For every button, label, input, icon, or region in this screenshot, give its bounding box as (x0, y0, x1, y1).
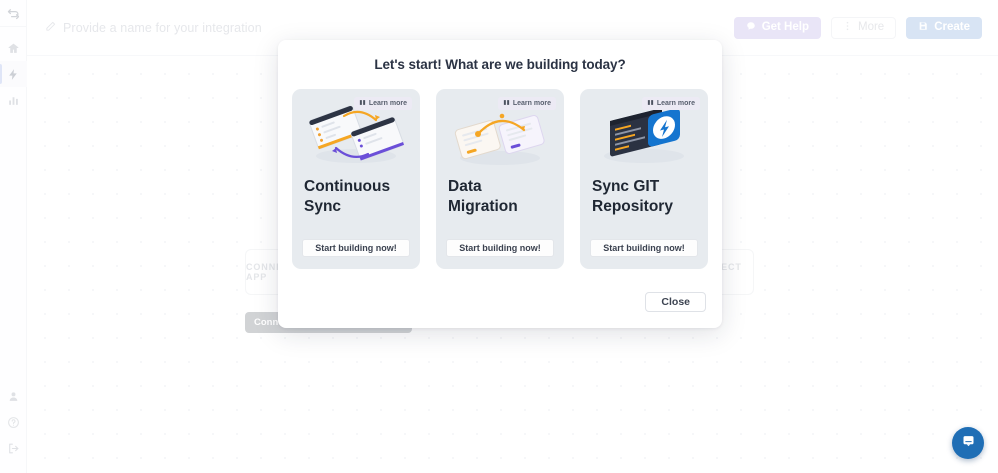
learn-more-badge[interactable]: Learn more (498, 97, 556, 110)
app-root: Provide a name for your integration Get … (0, 0, 998, 473)
learn-more-label: Learn more (657, 100, 695, 107)
modal-title: Let's start! What are we building today? (278, 57, 722, 72)
book-icon (647, 99, 654, 108)
start-building-button[interactable]: Start building now! (302, 239, 410, 257)
modal-footer: Close (278, 292, 722, 328)
book-icon (503, 99, 510, 108)
learn-more-label: Learn more (369, 100, 407, 107)
template-card-sync-git-repository[interactable]: Learn more (580, 89, 708, 269)
chat-launcher-button[interactable] (952, 427, 984, 459)
intercom-message-icon (961, 433, 976, 453)
start-building-button[interactable]: Start building now! (590, 239, 698, 257)
card-title: Continuous Sync (292, 177, 420, 217)
template-card-continuous-sync[interactable]: Learn more (292, 89, 420, 269)
template-card-list: Learn more (278, 89, 722, 269)
learn-more-badge[interactable]: Learn more (642, 97, 700, 110)
learn-more-label: Learn more (513, 100, 551, 107)
learn-more-badge[interactable]: Learn more (354, 97, 412, 110)
template-card-data-migration[interactable]: Learn more (436, 89, 564, 269)
book-icon (359, 99, 366, 108)
close-button[interactable]: Close (645, 292, 706, 312)
card-title: Data Migration (436, 177, 564, 217)
card-title: Sync GIT Repository (580, 177, 708, 217)
onboarding-modal: Let's start! What are we building today?… (278, 40, 722, 328)
start-building-button[interactable]: Start building now! (446, 239, 554, 257)
